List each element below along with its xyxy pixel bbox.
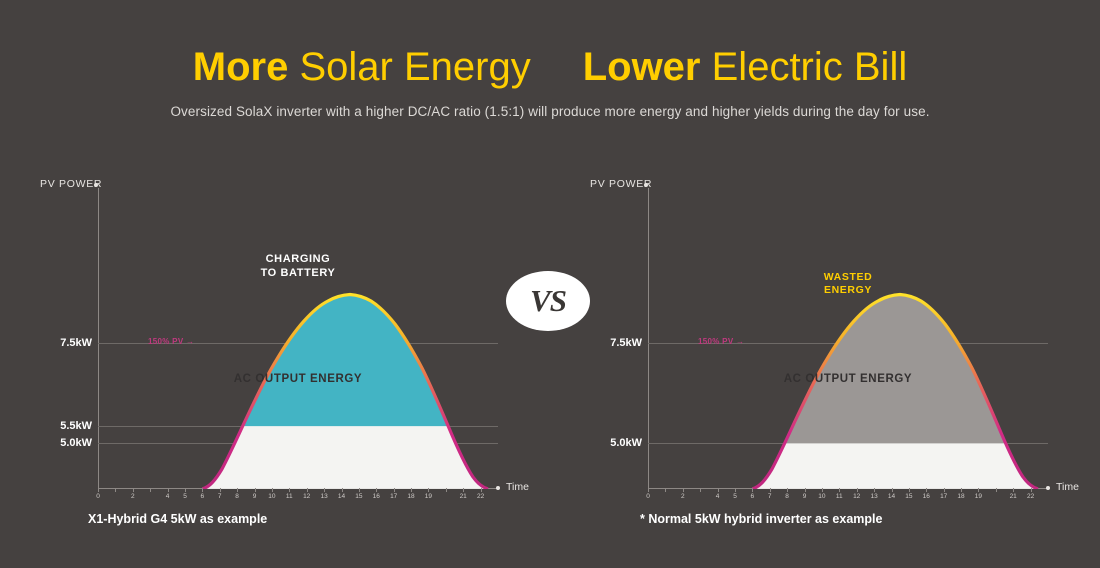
left-xtick-11: 11 [286, 493, 293, 500]
left-ytick-7-5kw-label: 7.5kW [60, 337, 92, 349]
page-subtitle: Oversized SolaX inverter with a higher D… [0, 104, 1100, 119]
left-xtick-22: 22 [477, 493, 484, 500]
left-chart-panel: PV POWER Time 7.5kW 5.5kW 5.0kW [28, 170, 528, 530]
page-title: More Solar EnergyLower Electric Bill [0, 44, 1100, 90]
left-xtick-0: 0 [96, 493, 100, 500]
right-xtick-10: 10 [818, 493, 825, 500]
left-y-axis-title: PV POWER [40, 178, 102, 190]
right-y-axis-title: PV POWER [590, 178, 652, 190]
right-xtick-11: 11 [836, 493, 843, 500]
right-xtick-9: 9 [803, 493, 807, 500]
right-xtick-19: 19 [975, 493, 982, 500]
left-y-axis-arrow-dot [94, 183, 98, 187]
right-x-axis-title: Time [1056, 481, 1079, 493]
left-xtick-6: 6 [200, 493, 204, 500]
right-xtick-2: 2 [681, 493, 685, 500]
left-xtick-7: 7 [218, 493, 222, 500]
right-xtick-15: 15 [905, 493, 912, 500]
headline-electric-bill: Electric Bill [712, 45, 908, 89]
left-xtick-17: 17 [390, 493, 397, 500]
left-xtick-2: 2 [131, 493, 135, 500]
headline-lower: Lower [583, 45, 701, 89]
right-xtick-21: 21 [1010, 493, 1017, 500]
right-xtick-14: 14 [888, 493, 895, 500]
left-x-axis-title: Time [506, 481, 529, 493]
right-y-axis-arrow-dot [644, 183, 648, 187]
left-xtick-5: 5 [183, 493, 187, 500]
right-xtick-4: 4 [716, 493, 720, 500]
right-x-ticks: 0 2 4 5 6 7 8 9 10 11 12 13 14 15 16 17 … [648, 488, 1048, 504]
right-xtick-6: 6 [750, 493, 754, 500]
right-panel-caption: * Normal 5kW hybrid inverter as example [640, 512, 882, 526]
left-xtick-13: 13 [320, 493, 327, 500]
right-xtick-18: 18 [957, 493, 964, 500]
left-ytick-5-5kw-label: 5.5kW [60, 420, 92, 432]
headline-solar-energy: Solar Energy [299, 45, 530, 89]
left-xtick-8: 8 [235, 493, 239, 500]
right-xtick-7: 7 [768, 493, 772, 500]
headline-more: More [193, 45, 289, 89]
right-xtick-0: 0 [646, 493, 650, 500]
left-xtick-18: 18 [407, 493, 414, 500]
vs-badge-label: VS [530, 283, 566, 319]
right-xtick-13: 13 [870, 493, 877, 500]
infographic-root: More Solar EnergyLower Electric Bill Ove… [0, 0, 1100, 568]
left-chart-svg [98, 188, 498, 489]
right-xtick-8: 8 [785, 493, 789, 500]
left-xtick-9: 9 [253, 493, 257, 500]
left-xtick-19: 19 [425, 493, 432, 500]
left-plot-area [98, 188, 498, 488]
right-ytick-7-5kw-label: 7.5kW [610, 337, 642, 349]
right-chart-panel: PV POWER Time 7.5kW 5.0kW [578, 170, 1078, 530]
left-xtick-15: 15 [355, 493, 362, 500]
right-xtick-17: 17 [940, 493, 947, 500]
left-xtick-14: 14 [338, 493, 345, 500]
right-xtick-16: 16 [923, 493, 930, 500]
left-xtick-10: 10 [268, 493, 275, 500]
left-ytick-5-0kw-label: 5.0kW [60, 437, 92, 449]
right-ytick-5-0kw-label: 5.0kW [610, 437, 642, 449]
left-xtick-12: 12 [303, 493, 310, 500]
right-xtick-5: 5 [733, 493, 737, 500]
right-plot-area [648, 188, 1048, 488]
left-panel-caption: X1-Hybrid G4 5kW as example [88, 512, 267, 526]
left-xtick-4: 4 [166, 493, 170, 500]
right-xtick-12: 12 [853, 493, 860, 500]
right-xtick-22: 22 [1027, 493, 1034, 500]
left-xtick-16: 16 [373, 493, 380, 500]
right-chart-svg [648, 188, 1048, 489]
left-xtick-21: 21 [460, 493, 467, 500]
left-x-ticks: 0 2 4 5 6 7 8 9 10 11 12 13 14 15 16 17 … [98, 488, 498, 504]
